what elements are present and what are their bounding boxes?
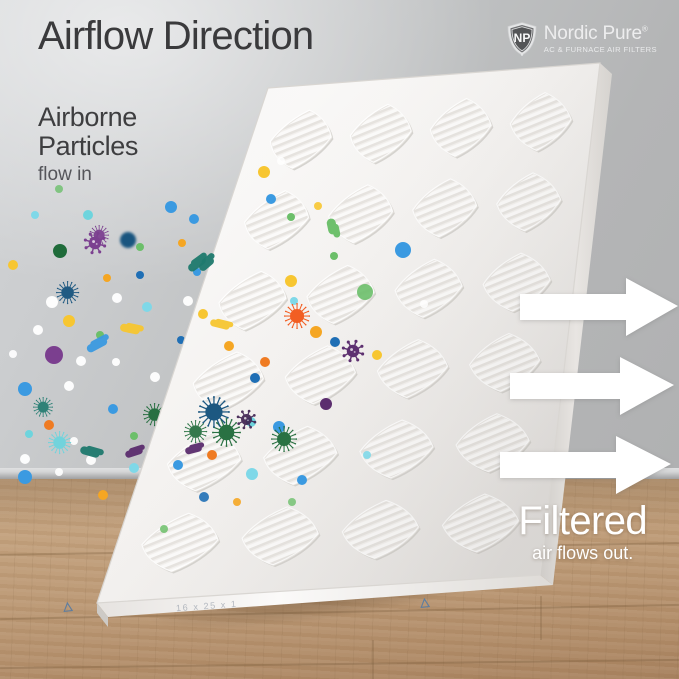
particle-dot (258, 166, 270, 178)
particle-dot (314, 202, 322, 210)
filtered-label-line1: Filtered (518, 500, 647, 542)
particle-dot (260, 357, 270, 367)
spiky-germ-icon (284, 303, 310, 329)
particle-dot (330, 337, 340, 347)
virus-blob-icon (341, 339, 365, 363)
particle-dot (224, 341, 234, 351)
filtered-label-line2: air flows out. (518, 542, 647, 564)
particle-dot (285, 275, 297, 287)
particle-dot (363, 451, 371, 459)
particle-dot (357, 284, 373, 300)
particle-dot (173, 460, 183, 470)
spiky-germ-icon (271, 426, 297, 452)
airflow-arrow (500, 434, 672, 498)
airflow-direction-arrow-icon (418, 595, 432, 614)
virus-blob-icon (236, 409, 257, 430)
particle-dot (288, 498, 296, 506)
filtered-label: Filtered air flows out. (518, 500, 647, 564)
particle-dot (160, 525, 168, 533)
airflow-arrow (510, 355, 675, 419)
particle-dot (198, 309, 208, 319)
particle-dot (233, 498, 241, 506)
particle-dot (287, 213, 295, 221)
particle-dot (310, 326, 322, 338)
particle-dot (266, 194, 276, 204)
spiky-germ-icon (184, 420, 207, 443)
particle-dot (420, 300, 428, 308)
particle-dot (246, 468, 258, 480)
particle-dot (330, 252, 338, 260)
particle-dot (372, 350, 382, 360)
particle-dot (320, 398, 332, 410)
particle-dot (199, 492, 209, 502)
particle-dot (207, 450, 217, 460)
airflow-direction-arrow-icon (61, 599, 75, 618)
product-infographic: Airflow Direction Airborne Particles flo… (0, 0, 679, 679)
particle-dot (277, 157, 285, 165)
particle-dot (297, 475, 307, 485)
particle-dot (250, 373, 260, 383)
particle-dot (395, 242, 411, 258)
airflow-arrow (520, 276, 679, 340)
